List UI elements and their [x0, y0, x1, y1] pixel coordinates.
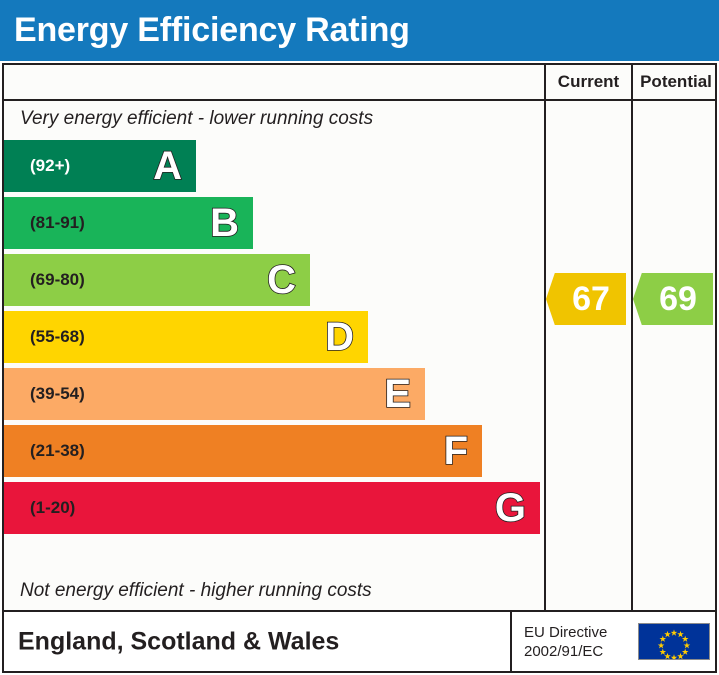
column-header-potential: Potential	[633, 65, 719, 99]
eu-directive-line-1: EU Directive	[524, 623, 607, 642]
band-c: (69-80) C	[4, 254, 310, 306]
chart-footer: England, Scotland & Wales EU Directive 2…	[2, 612, 717, 673]
footer-divider	[510, 612, 512, 671]
region-label: England, Scotland & Wales	[18, 627, 339, 656]
chart-title-bar: Energy Efficiency Rating	[0, 0, 719, 61]
band-a: (92+) A	[4, 140, 196, 192]
band-b-range: (81-91)	[30, 213, 85, 233]
eu-directive-label: EU Directive 2002/91/EC	[524, 623, 607, 661]
band-area: Very energy efficient - lower running co…	[4, 101, 542, 610]
band-f-range: (21-38)	[30, 441, 85, 461]
current-column-divider	[544, 65, 546, 610]
band-e-range: (39-54)	[30, 384, 85, 404]
caption-very-efficient: Very energy efficient - lower running co…	[20, 108, 373, 130]
eu-flag-stars	[639, 624, 709, 659]
potential-column-divider	[631, 65, 633, 610]
band-a-range: (92+)	[30, 156, 70, 176]
band-d-range: (55-68)	[30, 327, 85, 347]
band-b: (81-91) B	[4, 197, 253, 249]
band-g-letter: G	[495, 488, 526, 528]
band-g: (1-20) G	[4, 482, 540, 534]
potential-rating-badge: 69	[633, 273, 713, 325]
page-title: Energy Efficiency Rating	[14, 5, 410, 55]
current-rating-value: 67	[562, 280, 610, 319]
band-g-range: (1-20)	[30, 498, 75, 518]
column-header-current: Current	[546, 65, 631, 99]
band-e-letter: E	[384, 374, 411, 414]
band-c-range: (69-80)	[30, 270, 85, 290]
band-b-letter: B	[210, 203, 239, 243]
eu-flag-icon	[638, 623, 710, 660]
band-f-letter: F	[444, 431, 468, 471]
eu-directive-line-2: 2002/91/EC	[524, 642, 607, 661]
band-e: (39-54) E	[4, 368, 425, 420]
band-c-letter: C	[267, 260, 296, 300]
potential-rating-value: 69	[649, 280, 697, 319]
band-d: (55-68) D	[4, 311, 368, 363]
rating-table: Current Potential Very energy efficient …	[2, 63, 717, 612]
energy-efficiency-rating-chart: Energy Efficiency Rating Current Potenti…	[0, 0, 719, 675]
band-f: (21-38) F	[4, 425, 482, 477]
current-rating-badge: 67	[546, 273, 626, 325]
caption-not-efficient: Not energy efficient - higher running co…	[20, 580, 372, 602]
band-a-letter: A	[153, 146, 182, 186]
band-d-letter: D	[325, 317, 354, 357]
